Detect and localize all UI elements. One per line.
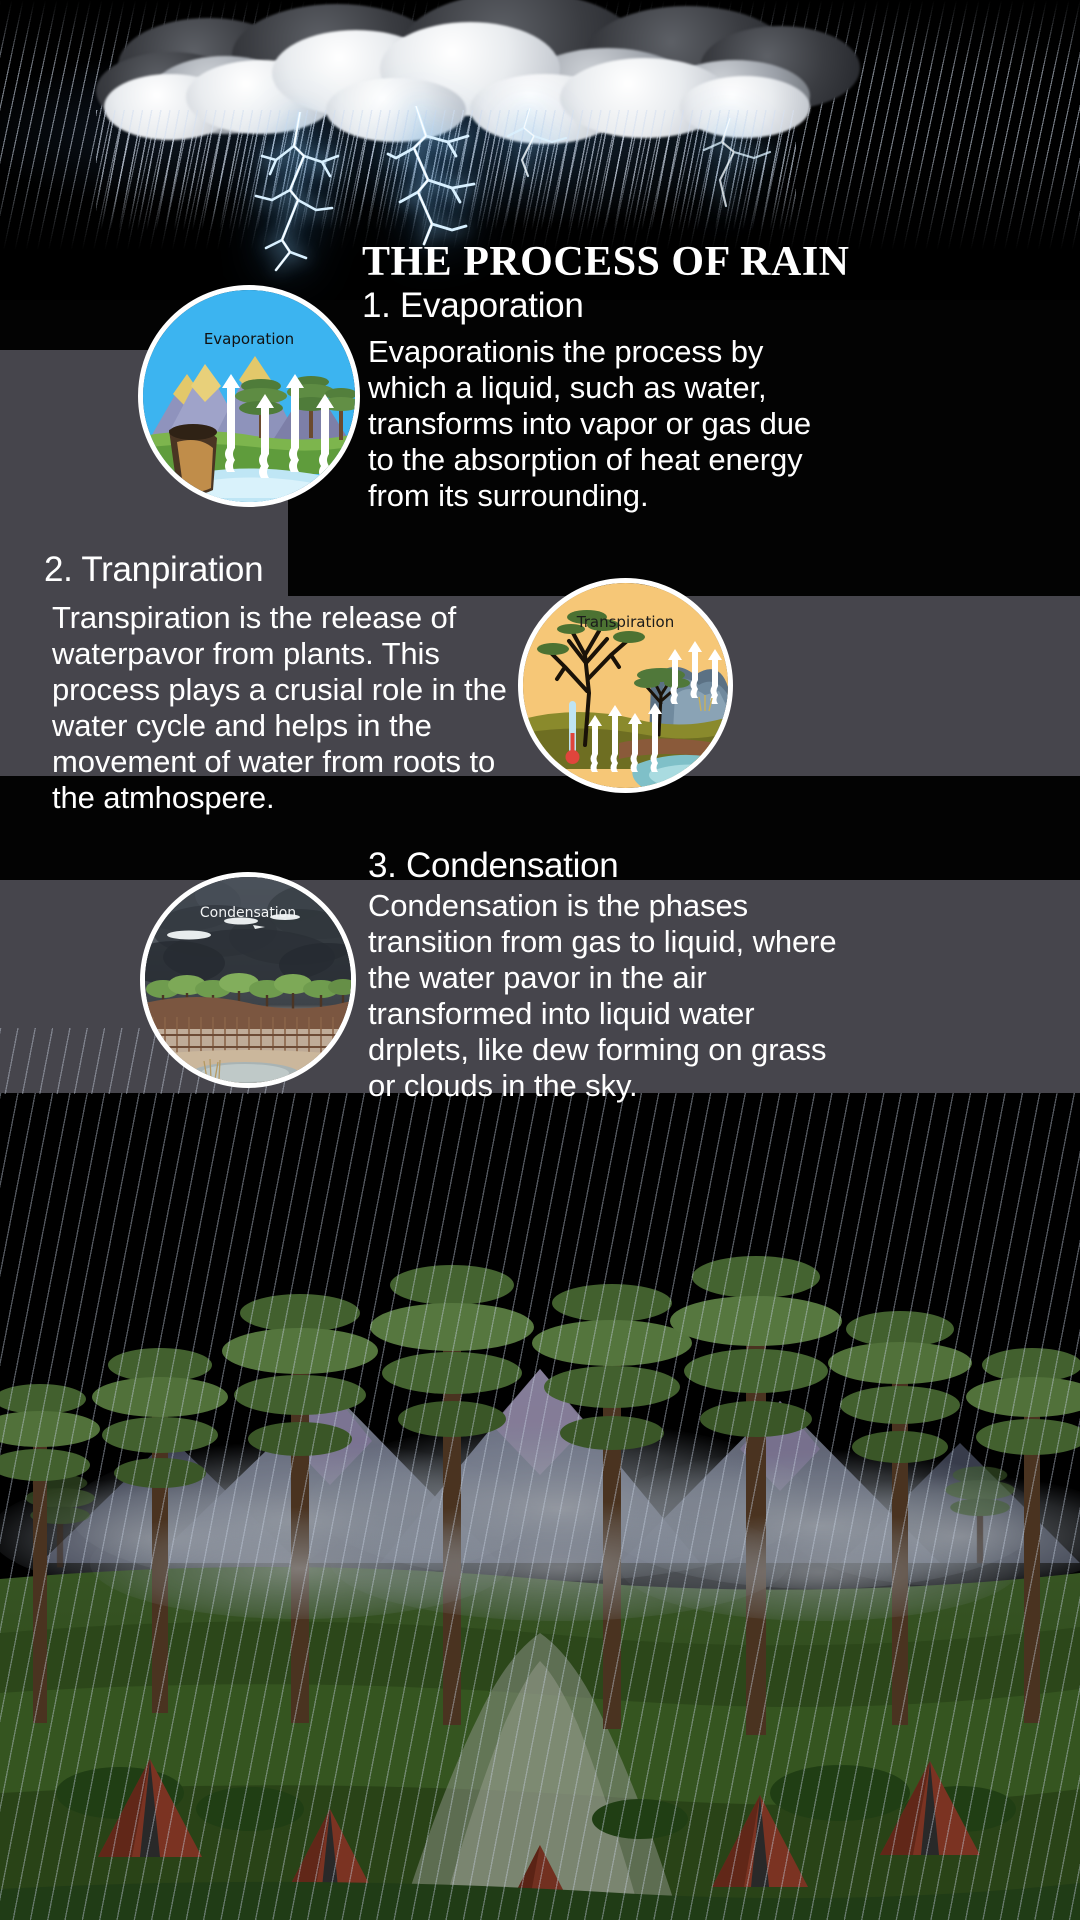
section-1-body: Evaporationis the process by which a liq…: [368, 334, 838, 514]
transpiration-illustration: Transpiration: [518, 578, 733, 793]
forest-rain-streaks: [0, 1093, 1080, 1920]
rainy-forest-illustration: [0, 1093, 1080, 1920]
lightning-bolt-icon: [496, 108, 576, 178]
evaporation-illustration: Evaporation: [138, 285, 360, 507]
lightning-bolt-icon: [690, 118, 780, 208]
section-2-heading: 2. Tranpiration: [44, 550, 263, 590]
condensation-illustration: Condensation: [140, 872, 356, 1088]
condensation-circle-label: Condensation: [145, 905, 351, 921]
transpiration-circle-label: Transpiration: [523, 613, 728, 631]
page-title: THE PROCESS OF RAIN: [362, 238, 1062, 286]
evaporation-scene: [143, 290, 355, 502]
section-3-body: Condensation is the phases transition fr…: [368, 888, 848, 1104]
evaporation-circle-label: Evaporation: [143, 330, 355, 348]
section-2-body: Transpiration is the release of waterpav…: [52, 600, 522, 816]
infographic-poster: THE PROCESS OF RAIN 1. Evaporation Evapo…: [0, 0, 1080, 1920]
section-1-heading: 1. Evaporation: [362, 286, 584, 326]
lightning-bolt-icon: [246, 112, 366, 272]
section-3-heading: 3. Condensation: [368, 846, 618, 886]
